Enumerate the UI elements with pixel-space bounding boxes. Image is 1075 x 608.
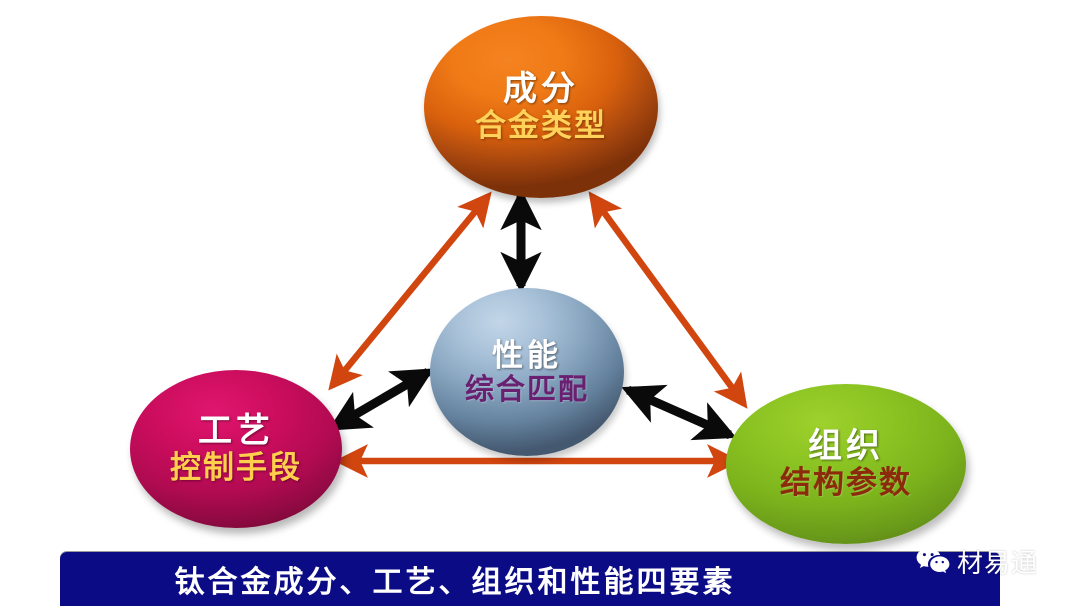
node-structure-title: 组织 <box>808 429 884 464</box>
caption-text: 钛合金成分、工艺、组织和性能四要素 <box>175 557 886 601</box>
caption-bar: 钛合金成分、工艺、组织和性能四要素 <box>60 552 1000 606</box>
wechat-icon <box>916 547 950 577</box>
node-performance[interactable]: 性能 综合匹配 <box>430 288 624 456</box>
diagram-canvas: 成分 合金类型 性能 综合匹配 工艺 控制手段 组织 结构参数 钛合金成分、工艺… <box>0 0 1075 608</box>
node-composition[interactable]: 成分 合金类型 <box>424 16 658 198</box>
node-process[interactable]: 工艺 控制手段 <box>130 370 342 528</box>
node-performance-subtitle: 综合匹配 <box>465 374 589 404</box>
node-structure[interactable]: 组织 结构参数 <box>726 384 966 544</box>
watermark: 材易通 <box>916 543 1038 580</box>
watermark-label: 材易通 <box>957 543 1038 580</box>
node-composition-subtitle: 合金类型 <box>475 110 607 142</box>
edge-performance-process <box>334 372 428 427</box>
node-structure-subtitle: 结构参数 <box>780 467 912 499</box>
node-performance-title: 性能 <box>492 340 562 372</box>
edge-performance-structure <box>628 390 730 435</box>
node-composition-title: 成分 <box>503 72 579 107</box>
node-process-subtitle: 控制手段 <box>170 452 302 484</box>
node-process-title: 工艺 <box>198 414 274 449</box>
